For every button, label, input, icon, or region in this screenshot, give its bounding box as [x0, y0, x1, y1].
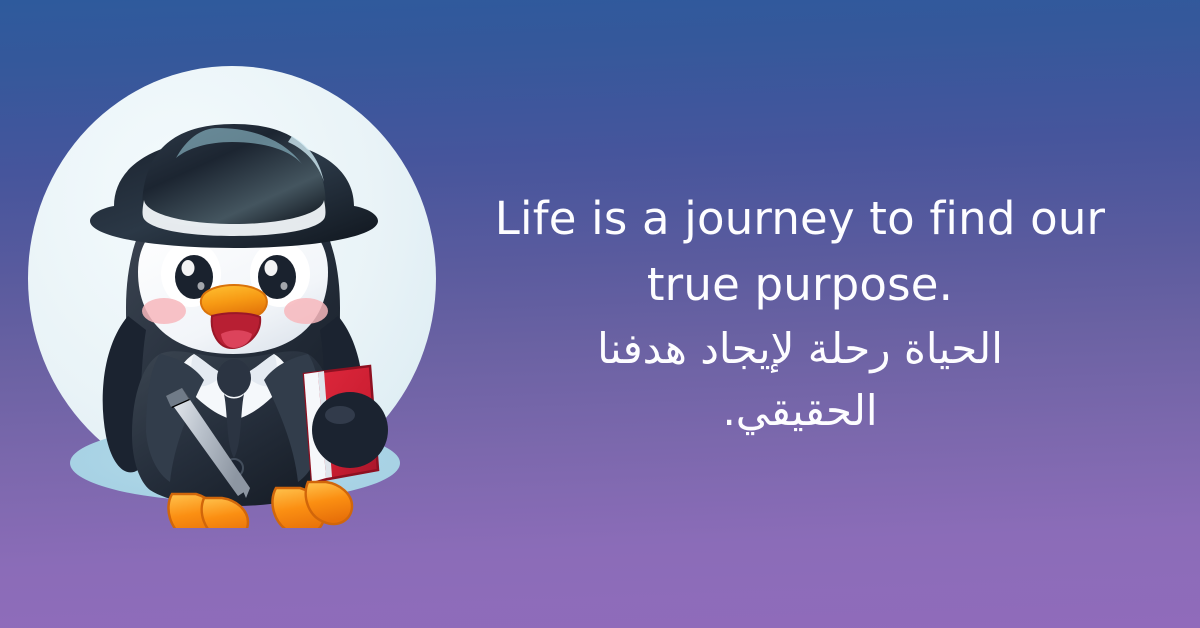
quote-text-block: Life is a journey to find our true purpo…: [440, 186, 1160, 442]
quote-arabic-line-2: الحقيقي.: [440, 380, 1160, 442]
quote-english-line-2: true purpose.: [440, 252, 1160, 318]
fedora-hat-group: [90, 124, 378, 248]
penguin-mascot-icon: [18, 58, 448, 528]
quote-card: Life is a journey to find our true purpo…: [0, 0, 1200, 628]
cheek-blush-right: [284, 298, 328, 324]
right-flipper: [312, 392, 388, 468]
quote-english-line-1: Life is a journey to find our: [440, 186, 1160, 252]
quote-arabic-line-1: الحياة رحلة لإيجاد هدفنا: [440, 318, 1160, 380]
penguin-illustration: [18, 58, 448, 528]
cheek-blush-left: [142, 298, 186, 324]
